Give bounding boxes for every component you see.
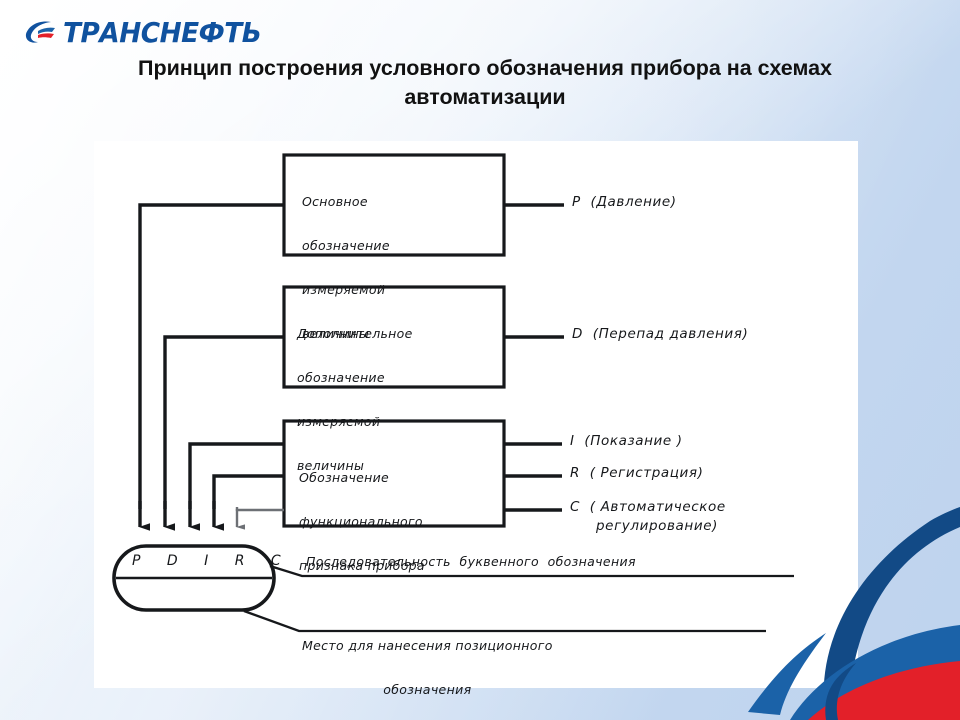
brand-name: ТРАНСНЕФТЬ: [63, 19, 261, 47]
box-additional-quantity-line-2: обозначение: [297, 371, 413, 386]
transneft-swoosh-icon: [22, 18, 58, 48]
page-title-line-1: Принцип построения условного обозначения…: [90, 54, 880, 83]
box-additional-quantity-line-1: Дополнительное: [297, 327, 413, 342]
box-functional-attribute-line-1: Обозначение: [299, 471, 425, 486]
box-functional-attribute-line-2: функционального: [299, 515, 425, 530]
callout-position-designation-line-1: Место для нанесения позиционного: [302, 639, 553, 654]
label-automatic-control-cont: регулирование): [596, 519, 718, 535]
callout-position-designation-line-2: обозначения: [302, 683, 553, 698]
label-differential-pressure: D (Перепад давления): [572, 327, 748, 343]
box-functional-attribute-text: Обозначение функционального признака при…: [299, 441, 425, 603]
tag-letters: P D I R C: [132, 553, 292, 570]
page-title-line-2: автоматизации: [90, 83, 880, 112]
label-registration: R ( Регистрация): [570, 466, 704, 482]
box-main-quantity-line-1: Основное: [302, 195, 390, 210]
callout-letter-sequence: Последовательность буквенного обозначени…: [306, 555, 636, 570]
label-pressure: P (Давление): [572, 195, 677, 211]
label-indication: I (Показание ): [570, 434, 683, 450]
box-main-quantity-line-3: измеряемой: [302, 283, 390, 298]
label-automatic-control: C ( Автоматическое: [570, 500, 726, 516]
callout-position-designation: Место для нанесения позиционного обознач…: [302, 609, 553, 720]
box-additional-quantity-line-3: измеряемой: [297, 415, 413, 430]
slide: ТРАНСНЕФТЬ Принцип построения условного …: [0, 0, 960, 720]
page-title: Принцип построения условного обозначения…: [90, 54, 880, 111]
box-main-quantity-line-2: обозначение: [302, 239, 390, 254]
corner-ribbon-decoration: [730, 505, 960, 720]
brand-logo: ТРАНСНЕФТЬ: [22, 14, 274, 52]
